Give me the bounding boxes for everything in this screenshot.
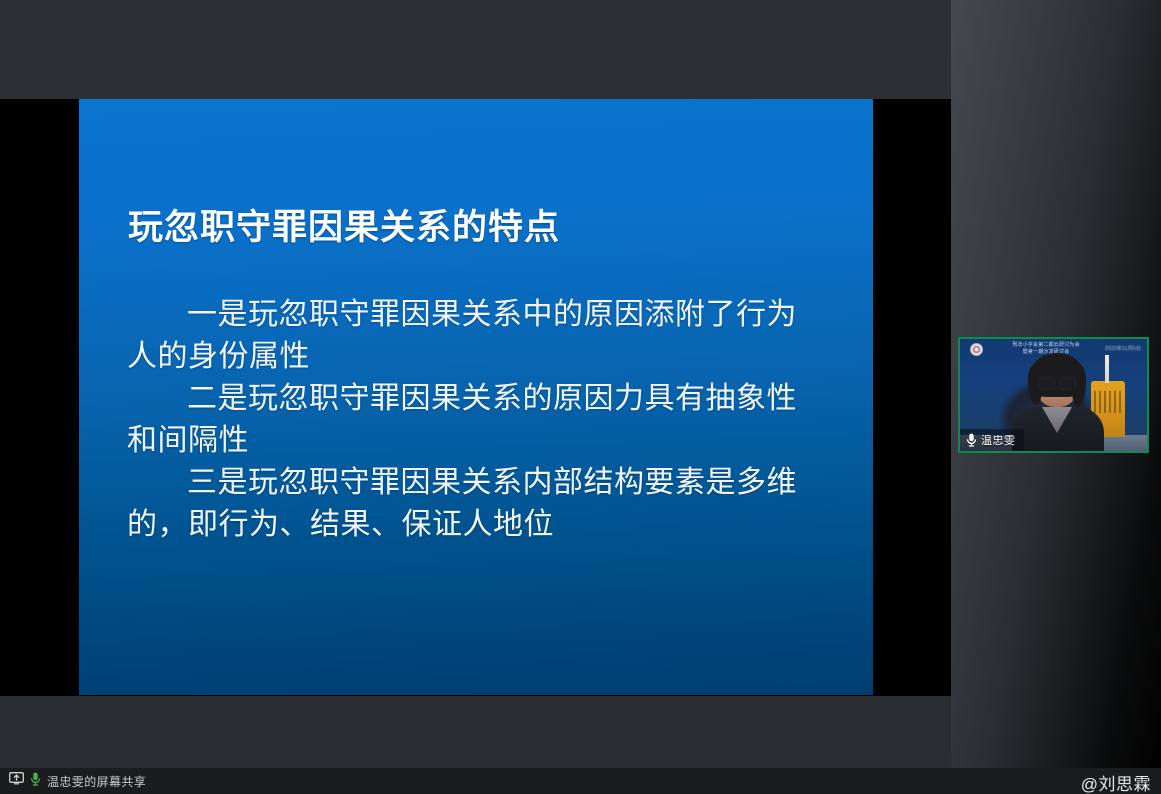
share-letterbox-top	[0, 0, 951, 99]
conference-banner-date: 2022年11月5日	[1105, 345, 1141, 352]
participant-name: 温忠雯	[981, 432, 1016, 448]
slide-title: 玩忽职守罪因果关系的特点	[128, 207, 560, 249]
slide-paragraph-1: 一是玩忽职守罪因果关系中的原因添附了行为人的身份属性	[127, 294, 827, 378]
share-letterbox-bottom	[0, 696, 951, 768]
presentation-slide: 玩忽职守罪因果关系的特点 一是玩忽职守罪因果关系中的原因添附了行为人的身份属性 …	[79, 99, 873, 695]
screen-share-viewport[interactable]: 玩忽职守罪因果关系的特点 一是玩忽职守罪因果关系中的原因添附了行为人的身份属性 …	[0, 0, 951, 794]
slide-paragraph-2: 二是玩忽职守罪因果关系的原因力具有抽象性和间隔性	[127, 378, 827, 462]
participant-video-tile[interactable]: 刑法小字会第二期云研讨为会 暨第一期沙龙研讨会 2022年11月5日 温忠雯	[958, 337, 1149, 453]
share-status-group: 温忠雯的屏幕共享	[0, 772, 146, 791]
university-emblem-icon	[970, 343, 983, 356]
microphone-icon	[30, 772, 41, 791]
screen-share-icon	[9, 772, 24, 790]
slide-body: 一是玩忽职守罪因果关系中的原因添附了行为人的身份属性 二是玩忽职守罪因果关系的原…	[127, 294, 827, 546]
speaker-glasses	[1038, 377, 1076, 388]
conference-window: 玩忽职守罪因果关系的特点 一是玩忽职守罪因果关系中的原因添附了行为人的身份属性 …	[0, 0, 1161, 794]
microphone-icon[interactable]	[966, 433, 977, 447]
slide-paragraph-3: 三是玩忽职守罪因果关系内部结构要素是多维的，即行为、结果、保证人地位	[127, 462, 827, 546]
watermark: @刘思霖	[1081, 770, 1151, 794]
share-status-text: 温忠雯的屏幕共享	[47, 773, 146, 790]
status-bar: 温忠雯的屏幕共享	[0, 768, 1161, 794]
video-tile-nameplate: 温忠雯	[960, 429, 1024, 451]
